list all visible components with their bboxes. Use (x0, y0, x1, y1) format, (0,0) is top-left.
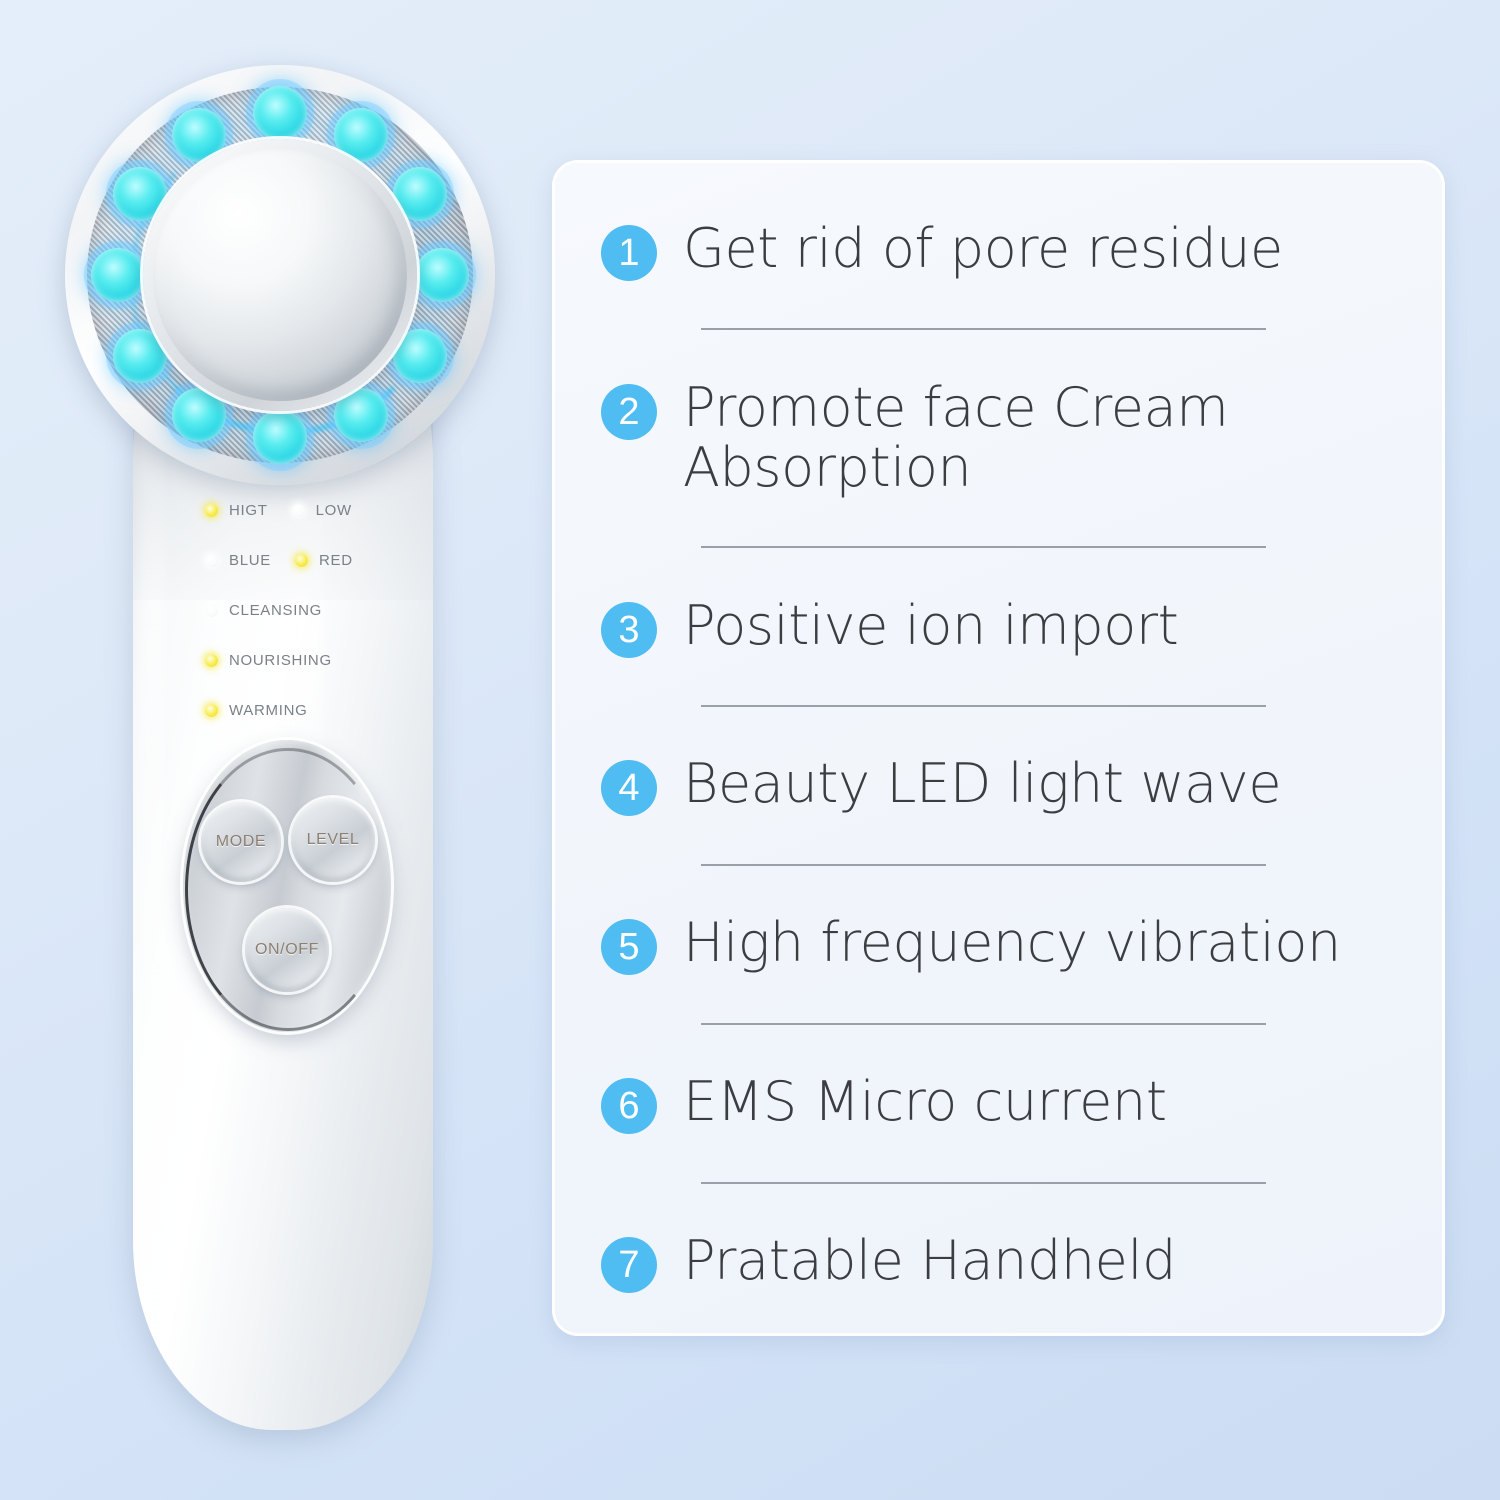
indicator-label: RED (319, 552, 353, 569)
feature-item: 4Beauty LED light wave (601, 754, 1396, 816)
spacer (601, 975, 1396, 1022)
led-light (253, 410, 307, 464)
spacer (601, 707, 1396, 754)
feature-item: 1Get rid of pore residue (601, 219, 1396, 281)
power-button-label: ON/OFF (255, 941, 319, 959)
feature-list-panel: 1Get rid of pore residue2Promote face Cr… (552, 160, 1445, 1336)
feature-text: Beauty LED light wave (683, 754, 1281, 814)
indicator-row: CLEANSING (205, 585, 475, 635)
indicator-label: CLEANSING (229, 602, 322, 619)
indicator-higt: HIGT (205, 502, 268, 519)
led-dot-icon (205, 704, 218, 717)
indicator-warming: WARMING (205, 702, 308, 719)
indicator-cleansing: CLEANSING (205, 602, 322, 619)
feature-number-badge: 4 (601, 760, 657, 816)
indicator-label: NOURISHING (229, 652, 332, 669)
spacer (601, 658, 1396, 705)
led-dot-icon (292, 504, 305, 517)
led-dot-icon (205, 504, 218, 517)
indicator-label: HIGT (229, 502, 268, 519)
status-indicator-list: HIGTLOWBLUEREDCLEANSINGNOURISHINGWARMING (205, 485, 475, 735)
feature-text: EMS Micro current (683, 1072, 1167, 1132)
indicator-blue: BLUE (205, 552, 271, 569)
feature-text: Pratable Handheld (683, 1231, 1176, 1291)
device-led-head (65, 65, 495, 485)
mode-button-label: MODE (216, 833, 266, 851)
led-light (253, 86, 307, 140)
spacer (601, 281, 1396, 328)
level-button-label: LEVEL (307, 831, 360, 849)
feature-number-badge: 5 (601, 919, 657, 975)
feature-item: 5High frequency vibration (601, 913, 1396, 975)
indicator-row: NOURISHING (205, 635, 475, 685)
feature-text: High frequency vibration (683, 913, 1341, 973)
feature-item: 6EMS Micro current (601, 1072, 1396, 1134)
feature-number-badge: 6 (601, 1078, 657, 1134)
feature-number-badge: 2 (601, 384, 657, 440)
spacer (601, 548, 1396, 595)
led-light (415, 248, 469, 302)
indicator-label: LOW (316, 502, 352, 519)
indicator-row: HIGTLOW (205, 485, 475, 535)
feature-number-badge: 3 (601, 602, 657, 658)
product-infographic: HIGTLOWBLUEREDCLEANSINGNOURISHINGWARMING… (0, 0, 1500, 1500)
indicator-low: LOW (292, 502, 352, 519)
indicator-label: BLUE (229, 552, 271, 569)
feature-number-badge: 7 (601, 1237, 657, 1293)
spacer (601, 816, 1396, 863)
control-button-panel: MODE LEVEL ON/OFF (183, 740, 391, 1032)
led-dot-icon (205, 604, 218, 617)
led-dot-icon (205, 554, 218, 567)
indicator-nourishing: NOURISHING (205, 652, 332, 669)
feature-item: 7Pratable Handheld (601, 1231, 1396, 1293)
mode-button[interactable]: MODE (201, 802, 281, 882)
indicator-label: WARMING (229, 702, 308, 719)
indicator-row: WARMING (205, 685, 475, 735)
level-button[interactable]: LEVEL (291, 798, 375, 882)
led-light (91, 248, 145, 302)
product-device-image: HIGTLOWBLUEREDCLEANSINGNOURISHINGWARMING… (55, 55, 525, 1455)
feature-text: Get rid of pore residue (683, 219, 1283, 279)
feature-list: 1Get rid of pore residue2Promote face Cr… (601, 219, 1396, 1293)
spacer (601, 499, 1396, 546)
spacer (601, 330, 1396, 377)
power-button[interactable]: ON/OFF (245, 908, 329, 992)
feature-text: Positive ion import (683, 596, 1178, 656)
indicator-row: BLUERED (205, 535, 475, 585)
feature-item: 3Positive ion import (601, 596, 1396, 658)
spacer (601, 866, 1396, 913)
spacer (601, 1134, 1396, 1181)
led-dot-icon (205, 654, 218, 667)
feature-text: Promote face Cream Absorption (683, 378, 1396, 499)
spacer (601, 1184, 1396, 1231)
head-metal-disc (153, 149, 407, 401)
led-dot-icon (295, 554, 308, 567)
led-light (334, 388, 388, 442)
feature-number-badge: 1 (601, 225, 657, 281)
feature-item: 2Promote face Cream Absorption (601, 378, 1396, 499)
indicator-red: RED (295, 552, 353, 569)
spacer (601, 1025, 1396, 1072)
